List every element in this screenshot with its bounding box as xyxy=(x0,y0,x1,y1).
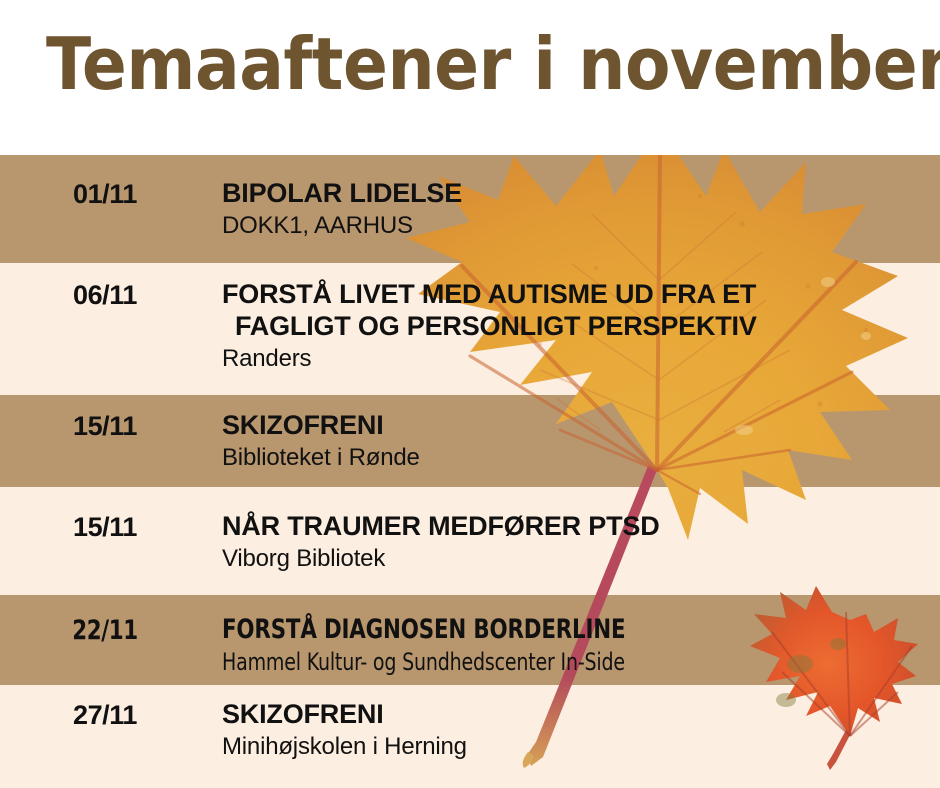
event-body: FORSTÅ LIVET MED AUTISME UD FRA ET FAGLI… xyxy=(222,279,922,374)
page-title: Temaaftener i november xyxy=(46,27,940,103)
event-title-line: FAGLIGT OG PERSONLIGT PERSPEKTIV xyxy=(222,311,922,343)
event-title: SKIZOFRENI xyxy=(222,699,922,731)
event-date: 27/11 xyxy=(40,700,170,731)
event-venue: Biblioteket i Rønde xyxy=(222,444,922,473)
event-date: 06/11 xyxy=(40,280,170,311)
event-title: SKIZOFRENI xyxy=(222,410,922,442)
event-venue: Hammel Kultur- og Sundhedscenter In-Side xyxy=(222,648,838,677)
event-venue: Viborg Bibliotek xyxy=(222,545,922,574)
event-date: 22/11 xyxy=(48,615,162,646)
event-body: FORSTÅ DIAGNOSEN BORDERLINE Hammel Kultu… xyxy=(222,614,922,677)
event-date: 15/11 xyxy=(40,512,170,543)
poster-header: Temaaftener i november xyxy=(0,0,940,155)
event-body: SKIZOFRENI Biblioteket i Rønde xyxy=(222,410,922,473)
event-title-line: FORSTÅ LIVET MED AUTISME UD FRA ET xyxy=(222,279,922,311)
event-title: FORSTÅ DIAGNOSEN BORDERLINE xyxy=(222,614,838,646)
event-title-line: BIPOLAR LIDELSE xyxy=(222,178,922,210)
event-title: BIPOLAR LIDELSE xyxy=(222,178,922,210)
event-title-line: NÅR TRAUMER MEDFØRER PTSD xyxy=(222,511,922,543)
event-body: NÅR TRAUMER MEDFØRER PTSD Viborg Bibliot… xyxy=(222,511,922,574)
event-title: FORSTÅ LIVET MED AUTISME UD FRA ET FAGLI… xyxy=(222,279,922,343)
event-venue: DOKK1, AARHUS xyxy=(222,212,922,241)
event-body: SKIZOFRENI Minihøjskolen i Herning xyxy=(222,699,922,762)
event-title-line: SKIZOFRENI xyxy=(222,410,922,442)
event-title-line: SKIZOFRENI xyxy=(222,699,922,731)
event-date: 01/11 xyxy=(40,179,170,210)
event-date: 15/11 xyxy=(40,411,170,442)
event-title: NÅR TRAUMER MEDFØRER PTSD xyxy=(222,511,922,543)
event-venue: Randers xyxy=(222,345,922,374)
event-title-line: FORSTÅ DIAGNOSEN BORDERLINE xyxy=(222,614,838,646)
event-body: BIPOLAR LIDELSE DOKK1, AARHUS xyxy=(222,178,922,241)
poster-canvas: Temaaftener i november 01/11 BIPOLAR LID… xyxy=(0,0,940,788)
event-venue: Minihøjskolen i Herning xyxy=(222,733,922,762)
